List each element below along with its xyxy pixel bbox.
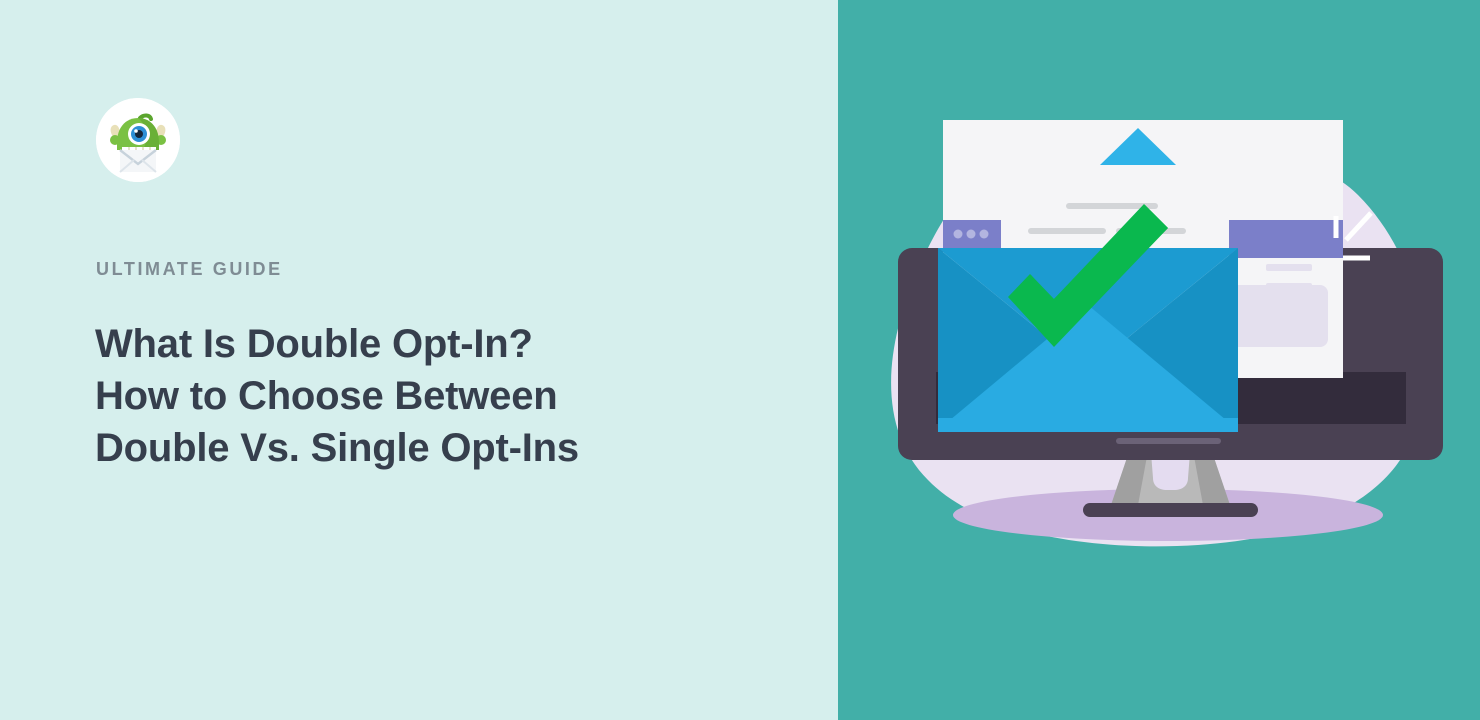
browser-dot: [954, 230, 963, 239]
monster-envelope-icon: [96, 98, 180, 182]
page-title: What Is Double Opt-In? How to Choose Bet…: [95, 318, 795, 474]
browser-dot: [980, 230, 989, 239]
right-illustration-panel: [838, 0, 1480, 720]
left-content-panel: ULTIMATE GUIDE What Is Double Opt-In? Ho…: [0, 0, 838, 720]
double-opt-in-illustration: [838, 0, 1480, 720]
eyebrow-label: ULTIMATE GUIDE: [96, 260, 283, 278]
browser-dot: [967, 230, 976, 239]
optinmonster-logo[interactable]: [96, 98, 180, 182]
hero-banner: ULTIMATE GUIDE What Is Double Opt-In? Ho…: [0, 0, 1480, 720]
